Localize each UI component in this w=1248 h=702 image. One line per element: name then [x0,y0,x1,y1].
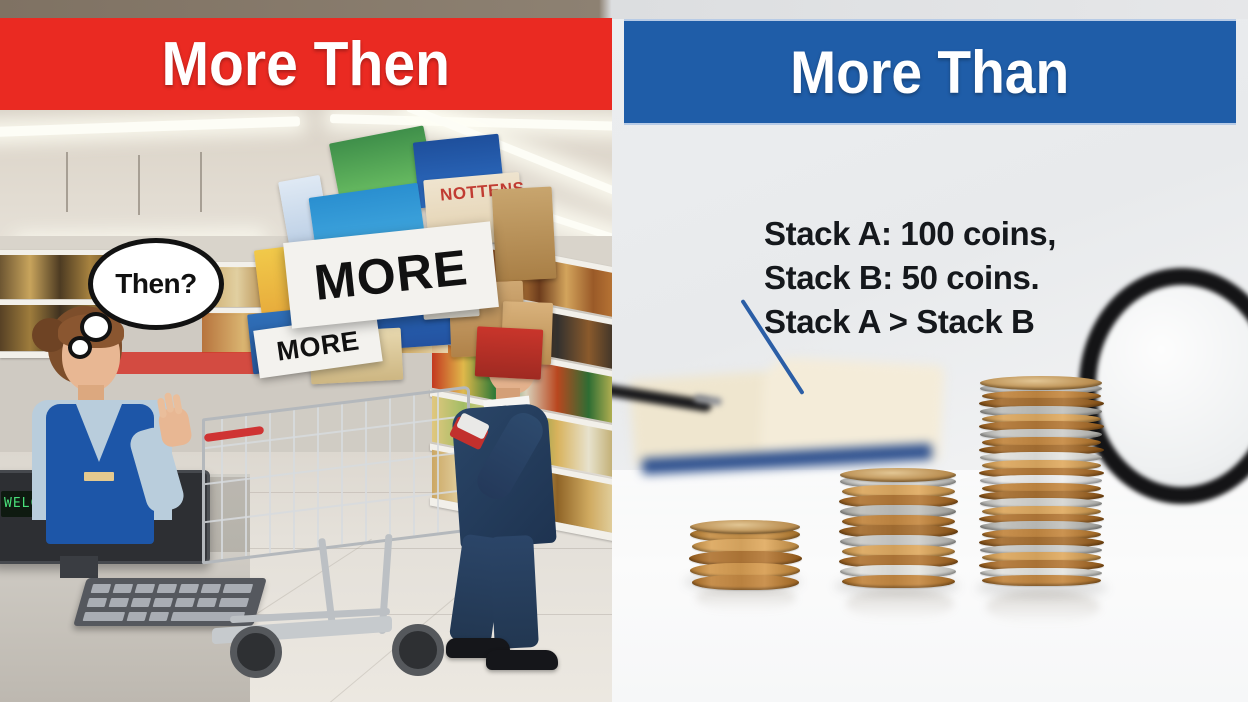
text-line-stack-b: Stack B: 50 coins. [764,256,1056,300]
shopper-character [440,330,590,680]
coin-stack-tall [980,386,1102,586]
right-banner: More Than [624,19,1236,125]
more-sign-large-label: MORE [311,238,470,312]
coin-stack-small [690,530,800,590]
right-banner-title: More Than [790,38,1069,107]
coin [692,575,799,590]
magnifying-glass [1079,268,1248,504]
top-edge-strip [0,0,1248,19]
left-banner-title: More Then [162,29,450,100]
thought-bubble-tail-small [68,336,92,359]
comparison-infographic: WELCOME 45 [0,0,1248,702]
magnifier-rim [1079,268,1248,504]
comparison-text-block: Stack A: 100 coins, Stack B: 50 coins. S… [764,212,1056,344]
coin [982,575,1101,586]
more-sign-small-label: MORE [275,325,362,367]
cashier-name-badge [84,472,114,481]
open-book [632,355,932,485]
left-banner: More Then [0,18,612,110]
thought-bubble: Then? [88,238,224,330]
ceiling-hanger [66,152,68,212]
cart-wheel [230,626,282,678]
ceiling-hanger [138,155,140,215]
shopper-legs [446,536,550,654]
coin-top-face [980,376,1102,390]
shopper-shoe [486,650,558,670]
text-line-stack-a: Stack A: 100 coins, [764,212,1056,256]
text-line-comparison: Stack A > Stack B [764,300,1056,344]
cashier-hand [157,406,193,449]
coin [842,575,955,588]
thought-bubble-text: Then? [115,268,197,300]
coin-top-face [840,468,956,482]
cart-basket [202,386,470,565]
cart-wheel [392,624,444,676]
coin-stack-medium [840,478,956,588]
coin-top-face [690,520,800,534]
ceiling-hanger [200,152,202,212]
